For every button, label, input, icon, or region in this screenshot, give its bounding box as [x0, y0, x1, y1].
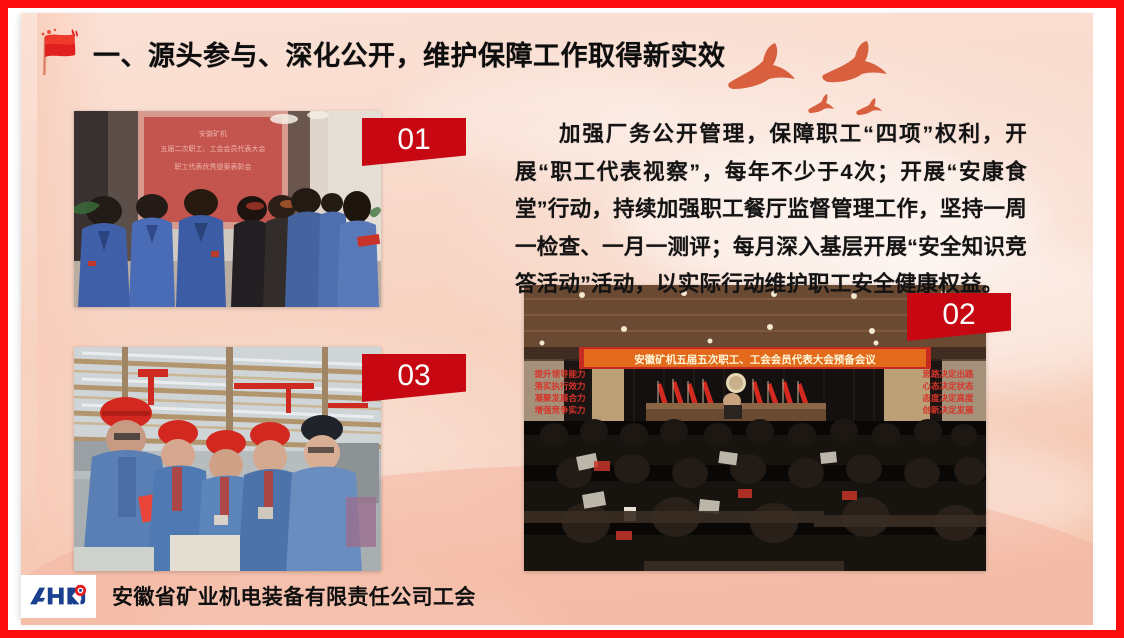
svg-text:心态决定状态: 心态决定状态	[922, 381, 974, 392]
svg-text:五届二次职工、工会会员代表大会: 五届二次职工、工会会员代表大会	[161, 144, 266, 153]
svg-text:态度决定高度: 态度决定高度	[922, 393, 974, 404]
badge-01: 01	[362, 118, 466, 166]
svg-text:凝聚发展合力: 凝聚发展合力	[534, 393, 585, 404]
photo-workshop-workers	[74, 347, 381, 571]
badge-02: 02	[907, 293, 1011, 341]
badge-03: 03	[362, 354, 466, 402]
slide-canvas: 一、源头参与、深化公开，维护保障工作取得新实效 加强厂务公开管理，保障职工“四项…	[21, 13, 1093, 625]
photo-award-ceremony: 安徽矿机 五届二次职工、工会会员代表大会 职工代表优秀提案表彰会	[74, 111, 381, 307]
slide-title-row: 一、源头参与、深化公开，维护保障工作取得新实效	[31, 25, 726, 81]
svg-text:安徽矿机: 安徽矿机	[199, 129, 227, 138]
svg-text:职工代表优秀提案表彰会: 职工代表优秀提案表彰会	[175, 162, 252, 171]
svg-text:创新决定发展: 创新决定发展	[921, 405, 974, 416]
footer-org-name: 安徽省矿业机电装备有限责任公司工会	[112, 581, 476, 611]
svg-text:提升领导能力: 提升领导能力	[534, 369, 585, 380]
red-flag-icon	[31, 27, 89, 79]
svg-text:思路决定出路: 思路决定出路	[922, 369, 974, 380]
svg-text:安徽矿机五届五次职工、工会会员代表大会预备会议: 安徽矿机五届五次职工、工会会员代表大会预备会议	[634, 353, 876, 366]
company-logo	[21, 575, 96, 618]
slide-footer: 安徽省矿业机电装备有限责任公司工会	[21, 567, 1093, 625]
flying-birds-icon	[711, 31, 971, 121]
svg-text:落实执行效力: 落实执行效力	[534, 381, 585, 392]
page-title: 一、源头参与、深化公开，维护保障工作取得新实效	[93, 34, 726, 73]
slide-frame: 一、源头参与、深化公开，维护保障工作取得新实效 加强厂务公开管理，保障职工“四项…	[0, 0, 1124, 638]
svg-text:增强竞争实力: 增强竞争实力	[534, 405, 585, 416]
body-paragraph: 加强厂务公开管理，保障职工“四项”权利，开展“职工代表视察”，每年不少于4次；开…	[515, 116, 1027, 304]
